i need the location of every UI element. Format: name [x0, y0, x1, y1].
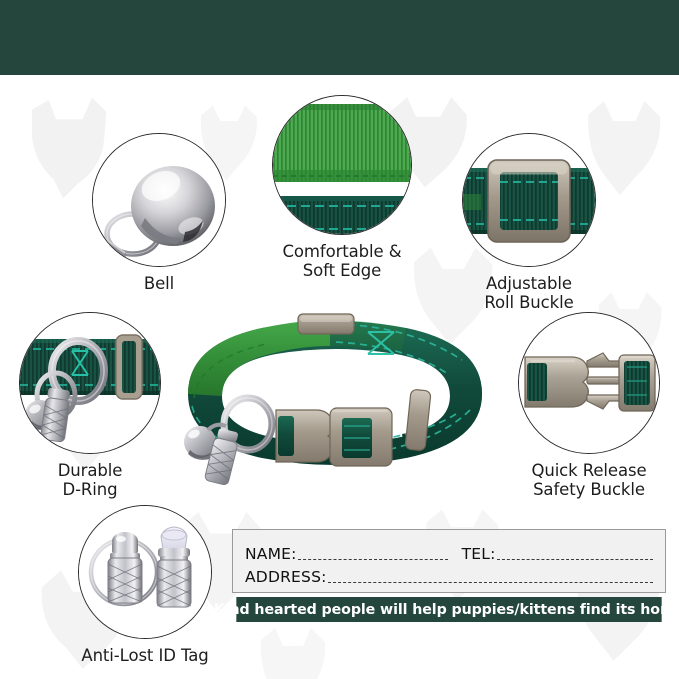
- name-label: NAME:: [245, 547, 297, 563]
- feature-label-id-tag: Anti-Lost ID Tag: [78, 646, 212, 665]
- webbing-edge-icon: [273, 96, 412, 235]
- card-row-address: ADDRESS:: [245, 562, 655, 585]
- roll-buckle-circle: [462, 133, 596, 267]
- roll-buckle-icon: [463, 134, 596, 267]
- feature-bell: Bell: [92, 133, 226, 293]
- tel-input[interactable]: [497, 553, 653, 560]
- header-band: [0, 0, 679, 75]
- feature-durable-d-ring: Durable D-Ring: [19, 312, 161, 499]
- address-input[interactable]: [328, 576, 653, 583]
- d-ring-circle: [19, 312, 161, 454]
- soft-edge-circle: [272, 95, 412, 235]
- card-row-name-tel: NAME: TEL:: [245, 539, 655, 562]
- green-collar-icon: [170, 302, 500, 502]
- feature-label-quick-release: Quick Release Safety Buckle: [518, 461, 660, 499]
- feature-label-soft-edge: Comfortable & Soft Edge: [272, 242, 412, 280]
- feature-label-bell: Bell: [92, 274, 226, 293]
- bell-icon: [93, 134, 226, 267]
- address-label: ADDRESS:: [245, 570, 327, 586]
- infographic-page: COLLAR DETAIL: [0, 0, 679, 679]
- side-release-buckle-icon: [519, 313, 660, 454]
- feature-quick-release-buckle: Quick Release Safety Buckle: [518, 312, 660, 499]
- feature-comfortable-soft-edge: Comfortable & Soft Edge: [272, 95, 412, 280]
- d-ring-icon: [20, 313, 161, 454]
- tel-label: TEL:: [462, 547, 496, 563]
- id-info-card: NAME: TEL: ADDRESS:: [232, 529, 666, 593]
- name-input[interactable]: [298, 553, 448, 560]
- id-card-banner: Kind hearted people will help puppies/ki…: [236, 597, 661, 622]
- feature-anti-lost-id-tag: Anti-Lost ID Tag: [78, 505, 212, 665]
- bell-circle: [92, 133, 226, 267]
- id-tag-circle: [78, 505, 212, 639]
- id-capsule-icon: [79, 506, 212, 639]
- product-collar-image: [170, 302, 500, 502]
- feature-label-d-ring: Durable D-Ring: [19, 461, 161, 499]
- cat-head-watermark: [236, 620, 346, 679]
- quick-release-circle: [518, 312, 660, 454]
- feature-adjustable-roll-buckle: Adjustable Roll Buckle: [462, 133, 596, 312]
